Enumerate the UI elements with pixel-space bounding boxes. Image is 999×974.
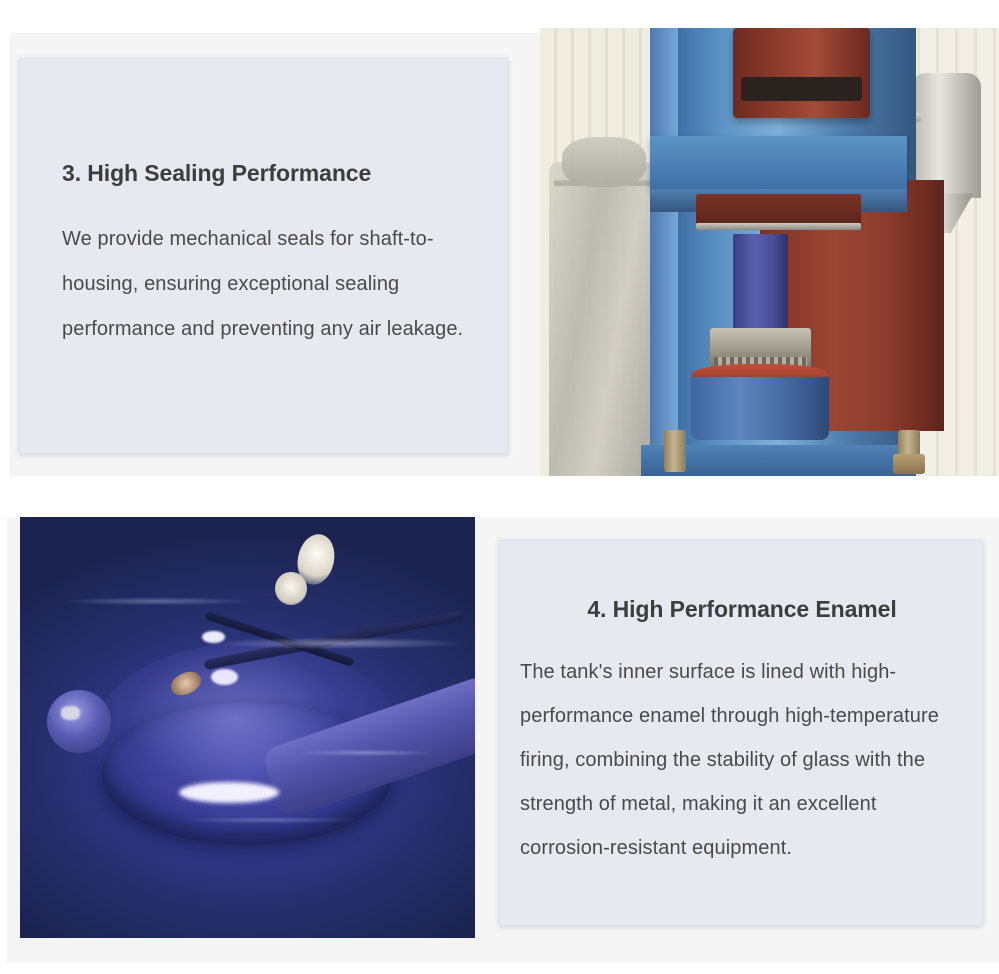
enamel-tank-interior-photo bbox=[20, 517, 475, 938]
photo-anchor-bolt-left bbox=[664, 430, 686, 472]
feature-card-body: We provide mechanical seals for shaft-to… bbox=[62, 217, 477, 352]
feature-card-content: 4. High Performance Enamel The tank's in… bbox=[500, 541, 982, 925]
photo-red-flange bbox=[696, 194, 861, 225]
feature-card-body: The tank's inner surface is lined with h… bbox=[520, 650, 964, 870]
feature-card-title: 3. High Sealing Performance bbox=[62, 160, 477, 188]
photo-red-motor-top bbox=[733, 28, 871, 118]
reactor-agitator-photo bbox=[540, 28, 999, 476]
feature-card-performance-enamel: 4. High Performance Enamel The tank's in… bbox=[499, 540, 983, 926]
photo-anchor-bolt-right bbox=[898, 430, 920, 472]
photo-specular-highlight-top bbox=[202, 631, 225, 644]
feature-card-title: 4. High Performance Enamel bbox=[520, 596, 964, 624]
photo-mechanical-seal bbox=[710, 328, 811, 368]
photo-light-streaks bbox=[20, 517, 475, 938]
feature-card-sealing-performance: 3. High Sealing Performance We provide m… bbox=[19, 58, 508, 454]
feature-card-content: 3. High Sealing Performance We provide m… bbox=[20, 59, 507, 453]
photo-agitator-shaft bbox=[733, 234, 788, 337]
photo-blue-band-upper bbox=[650, 136, 907, 190]
feature-cards-page: 3. High Sealing Performance We provide m… bbox=[0, 0, 999, 974]
photo-bright-spot-b bbox=[275, 572, 307, 606]
photo-blue-base bbox=[691, 377, 829, 440]
